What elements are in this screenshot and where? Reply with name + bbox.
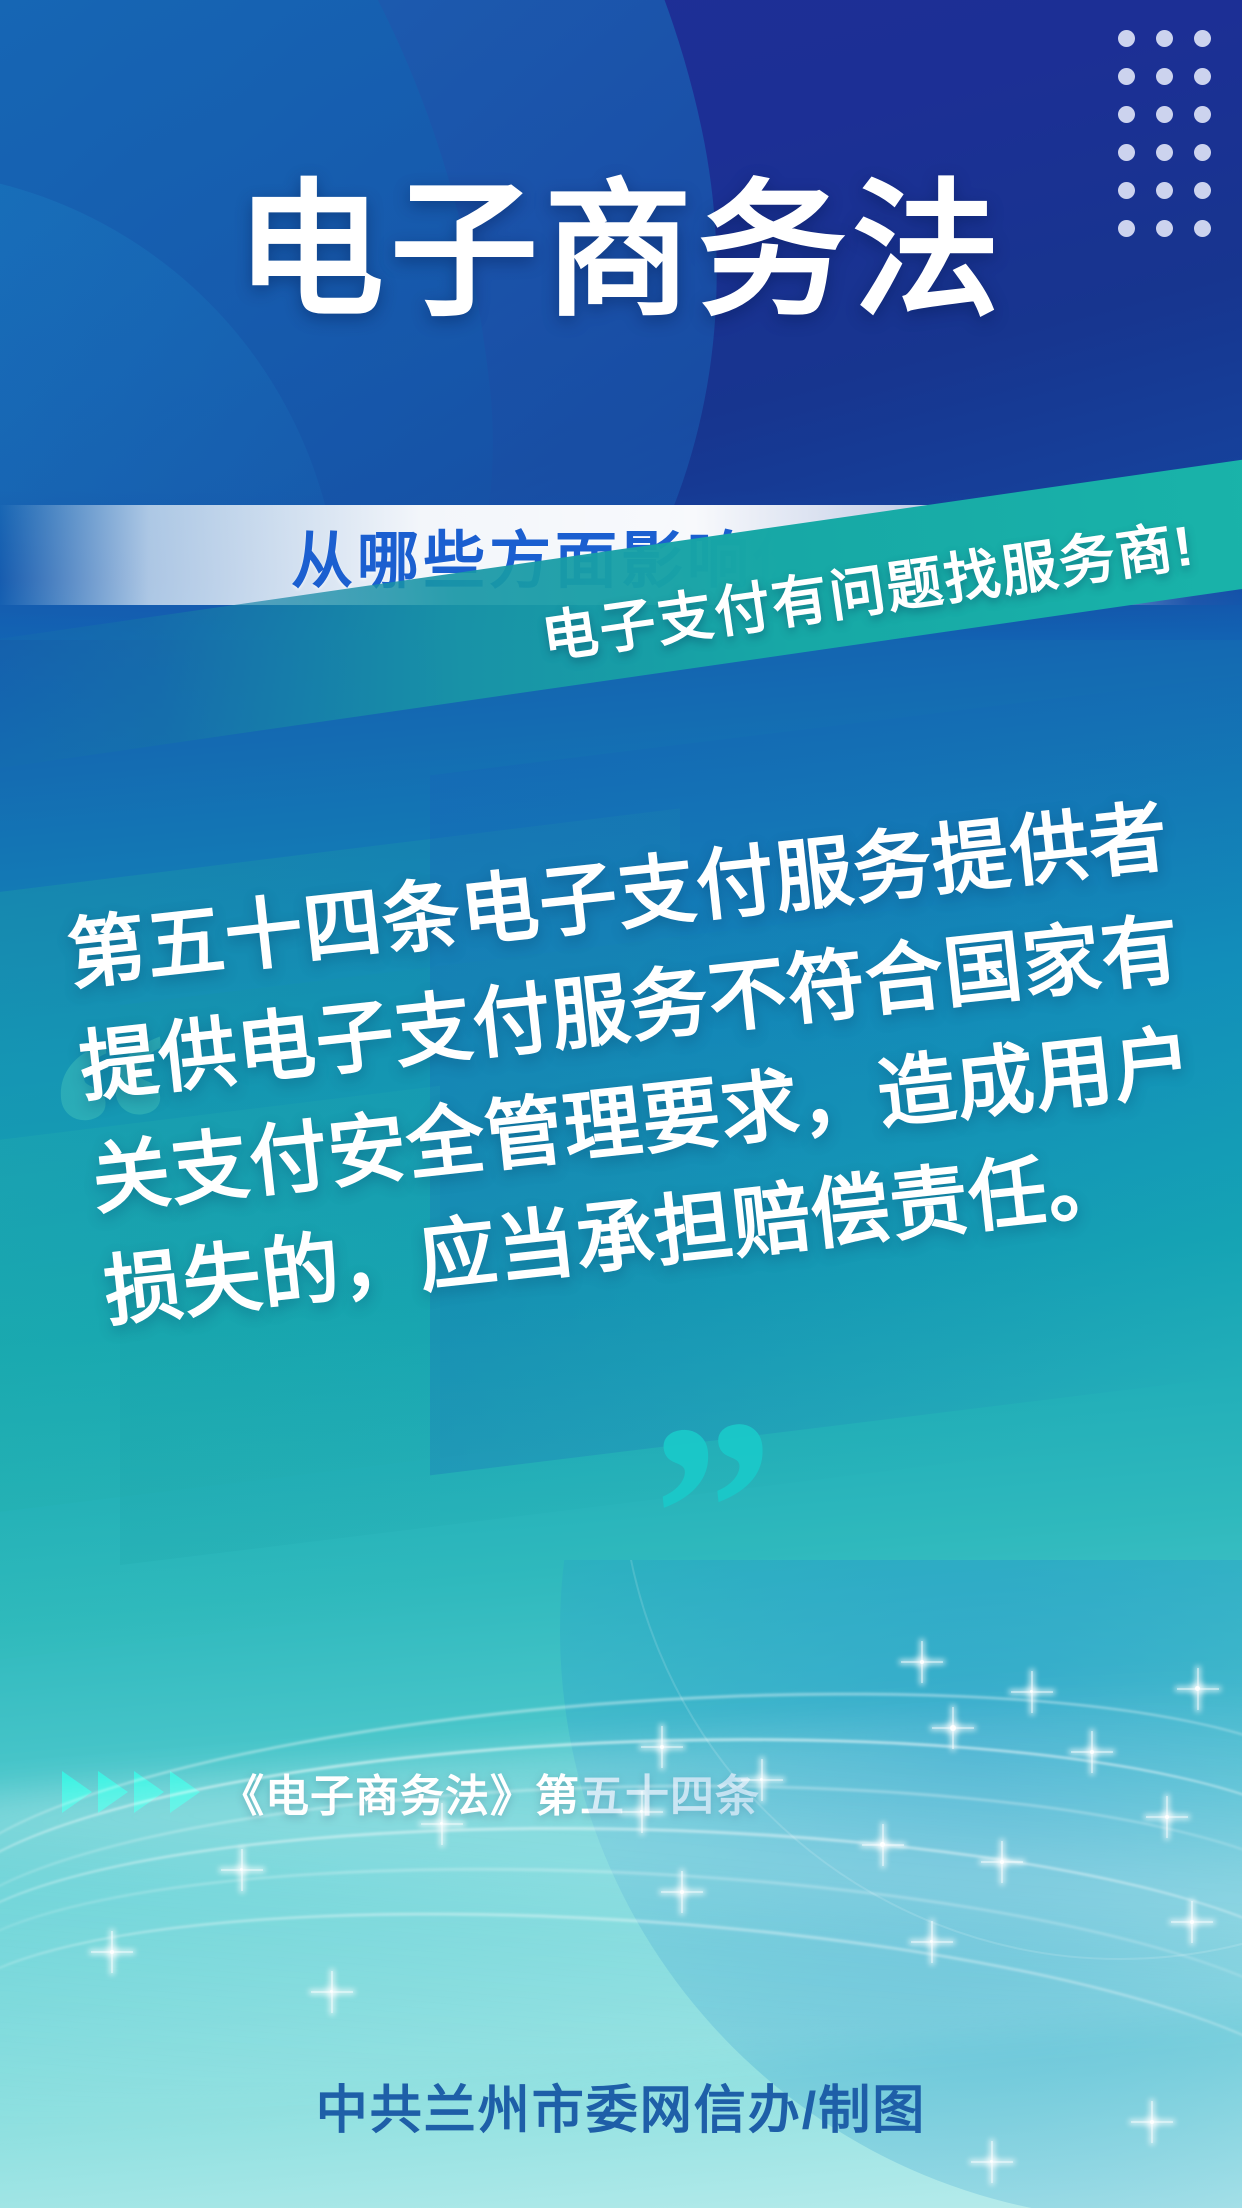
dot-icon: [1118, 144, 1135, 161]
dot-icon: [1118, 106, 1135, 123]
sparkle-icon: [920, 1660, 924, 1664]
sparkle-icon: [1195, 1686, 1200, 1691]
dot-icon: [1156, 106, 1173, 123]
dot-icon: [1156, 68, 1173, 85]
dot-icon: [1118, 30, 1135, 47]
footer-credit: 中共兰州市委网信办/制图: [0, 2068, 1242, 2143]
poster-root: 电子商务法 从哪些方面影响你我？ 电子支付有问题找服务商! “ ” 第五十四条电…: [0, 0, 1242, 2208]
sparkle-icon: [110, 1950, 114, 1954]
sparkle-icon: [440, 1822, 443, 1825]
sparkle-icon: [990, 2160, 993, 2163]
sparkle-icon: [1030, 1690, 1033, 1693]
dot-icon: [1156, 30, 1173, 47]
sparkle-icon: [760, 1778, 763, 1781]
sparkle-icon: [950, 1725, 956, 1731]
sparkle-icon: [240, 1868, 243, 1871]
dot-icon: [1194, 30, 1211, 47]
dot-icon: [1194, 106, 1211, 123]
sparkle-icon: [330, 1990, 333, 1993]
dot-icon: [1194, 68, 1211, 85]
sparkle-icon: [1090, 1750, 1094, 1754]
sparkle-icon: [680, 1890, 684, 1894]
page-title: 电子商务法: [0, 178, 1242, 326]
sparkle-icon: [880, 1842, 885, 1847]
sparkle-icon: [660, 1745, 664, 1749]
sparkle-icon: [1165, 1815, 1169, 1819]
dot-icon: [1194, 144, 1211, 161]
sparkle-icon: [930, 1940, 933, 1943]
dot-icon: [1118, 68, 1135, 85]
dot-icon: [1156, 144, 1173, 161]
sparkle-icon: [1190, 1920, 1194, 1924]
sparkle-icon: [640, 1810, 643, 1813]
sparkle-icon: [1000, 1860, 1004, 1864]
